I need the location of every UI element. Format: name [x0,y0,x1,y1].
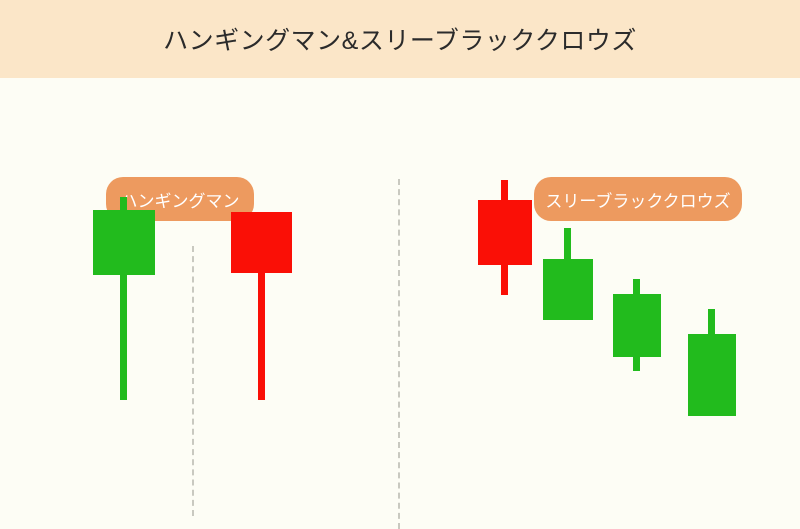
candlestick-pattern-illustration: ハンギングマン&スリーブラッククロウズ ハンギングマン スリーブラッククロウズ [0,0,800,500]
chart-area: ハンギングマン スリーブラッククロウズ [0,78,800,500]
candlestick-4-body [543,259,593,320]
candlestick-1-body [93,210,155,275]
page-title: ハンギングマン&スリーブラッククロウズ [0,0,800,78]
badge-three-black-crows: スリーブラッククロウズ [534,177,742,221]
candlestick-2-body [231,212,292,273]
candlestick-6-body [688,334,736,416]
header-bar: ハンギングマン&スリーブラッククロウズ [0,0,800,78]
divider-line-center [398,179,400,529]
candlestick-5-body [613,294,661,357]
divider-line-left [192,246,194,516]
candlestick-3-body [478,200,532,265]
